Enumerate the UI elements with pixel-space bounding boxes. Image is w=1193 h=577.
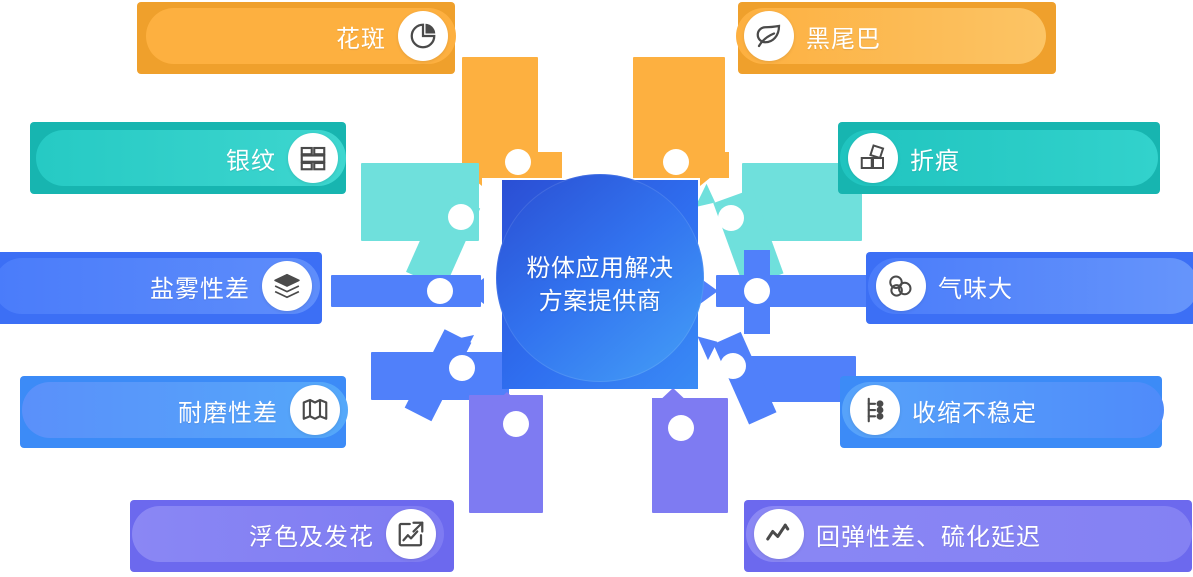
trending-up-box-icon: [386, 509, 436, 559]
puzzle-icon: [848, 133, 898, 183]
connector-dot: [505, 149, 531, 175]
pill-label: 收缩不稳定: [912, 393, 1037, 428]
connector-bar: [331, 275, 481, 307]
pill-label: 耐磨性差: [178, 393, 278, 428]
pill-hui-tan-xing-cha[interactable]: 回弹性差、硫化延迟: [746, 506, 1192, 562]
leaf-icon: [744, 11, 794, 61]
pill-shou-suo-bu-wen-ding[interactable]: 收缩不稳定: [842, 382, 1164, 438]
pill-label: 浮色及发花: [249, 517, 374, 552]
connector-dot: [449, 355, 475, 381]
connector-bar: [469, 395, 543, 513]
sitemap-icon: [850, 385, 900, 435]
pill-label: 银纹: [226, 141, 276, 176]
center-label: 粉体应用解决 方案提供商: [502, 180, 698, 389]
infographic-canvas: 粉体应用解决 方案提供商 花斑 黑尾巴 银纹: [0, 0, 1193, 577]
pill-nai-mo-xing-cha[interactable]: 耐磨性差: [22, 382, 348, 438]
pill-yan-wu-xing-cha[interactable]: 盐雾性差: [0, 258, 320, 314]
connector-dot: [663, 149, 689, 175]
connector-arrow: [656, 388, 690, 404]
pill-hei-wei-ba[interactable]: 黑尾巴: [736, 8, 1046, 64]
brick-wall-icon: [288, 133, 338, 183]
connector-arrow: [700, 160, 716, 186]
book-map-icon: [290, 385, 340, 435]
connector-dot: [668, 415, 694, 441]
pill-label: 盐雾性差: [150, 269, 250, 304]
connector-arrow: [466, 278, 484, 304]
recycle-icon: [876, 261, 926, 311]
pill-label: 花斑: [336, 19, 386, 54]
pie-chart-icon: [398, 11, 448, 61]
pill-label: 折痕: [910, 141, 960, 176]
connector-dot: [448, 204, 474, 230]
connector-dot: [503, 411, 529, 437]
connector-bar: [716, 275, 868, 307]
pill-label: 回弹性差、硫化延迟: [816, 517, 1041, 552]
connector-arrow: [490, 392, 524, 408]
layers-icon: [262, 261, 312, 311]
pill-zhe-hen[interactable]: 折痕: [840, 130, 1158, 186]
center-node: 粉体应用解决 方案提供商: [502, 180, 698, 389]
connector-dot: [744, 278, 770, 304]
pill-yin-wen[interactable]: 银纹: [36, 130, 346, 186]
line-chart-circle-icon: [754, 509, 804, 559]
pill-fu-se-ji-fa-hua[interactable]: 浮色及发花: [132, 506, 444, 562]
pill-qi-wei-da[interactable]: 气味大: [868, 258, 1193, 314]
pill-label: 气味大: [938, 269, 1013, 304]
pill-label: 黑尾巴: [806, 19, 881, 54]
connector-dot: [427, 278, 453, 304]
connector-dot: [718, 205, 744, 231]
connector-dot: [720, 353, 746, 379]
pill-hua-ban[interactable]: 花斑: [146, 8, 456, 64]
